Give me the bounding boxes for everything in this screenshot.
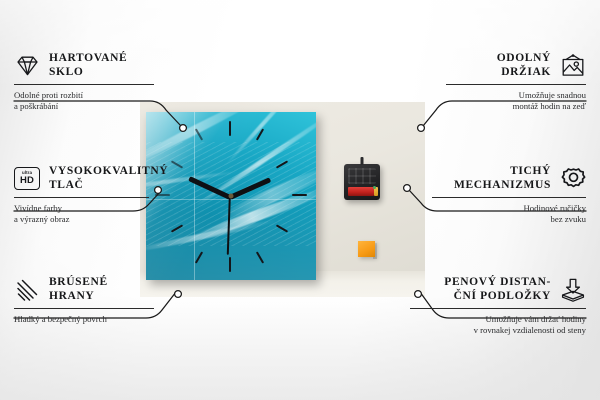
foam-spacer-pad [358, 241, 375, 257]
feature-desc-line1: Umožňuje vám držať hodiny [486, 314, 586, 324]
feature-desc-line2: bez zvuku [551, 214, 586, 224]
wall-clock [146, 112, 316, 280]
feature-divider [446, 84, 586, 85]
feature-tempered-glass: HARTOVANÉ SKLO Odolné proti rozbití a po… [14, 52, 154, 112]
feature-divider [14, 84, 154, 85]
clock-hub [229, 194, 234, 199]
feature-desc-line1: Hladký a bezpečný povrch [14, 314, 107, 324]
gear-icon [560, 167, 586, 191]
feature-title-line2: MECHANIZMUS [454, 179, 551, 191]
feature-divider [14, 197, 149, 198]
feature-silent-mechanism: TICHÝ MECHANIZMUS Hodinové ručičky bez z… [432, 165, 586, 225]
feature-desc-line2: montáž hodin na zeď [513, 101, 586, 111]
ultra-hd-icon: ultra HD [14, 167, 40, 191]
feature-title-line2: SKLO [49, 66, 84, 78]
feature-desc-line1: Vivídne farby [14, 203, 62, 213]
feature-desc-line1: Odolné proti rozbití [14, 90, 83, 100]
feature-desc-line2: a výrazný obraz [14, 214, 69, 224]
diamond-icon [14, 54, 40, 78]
mechanism-indicator [373, 186, 376, 189]
feature-title-line2: ČNÍ PODLOŽKY [454, 290, 551, 302]
feature-divider [410, 308, 586, 309]
feature-title-line2: HRANY [49, 290, 94, 302]
feature-title-line1: BRÚSENÉ [49, 276, 108, 288]
feature-title-line1: TICHÝ [510, 165, 551, 177]
clock-tick [292, 194, 307, 196]
feature-title-line1: PENOVÝ DISTAN- [444, 276, 551, 288]
polished-edges-icon [14, 278, 40, 302]
feature-durable-hanger: ODOLNÝ DRŽIAK Umožňuje snadnou montáž ho… [446, 52, 586, 112]
clock-tick [155, 194, 170, 196]
feature-title-line2: TLAČ [49, 179, 83, 191]
feature-title-line1: VYSOKOKVALITNÝ [49, 165, 168, 177]
feature-title-line1: HARTOVANÉ [49, 52, 127, 64]
product-photo [140, 102, 425, 297]
feature-desc-line1: Hodinové ručičky [524, 203, 586, 213]
feature-title-line2: DRŽIAK [501, 66, 551, 78]
infographic-canvas: HARTOVANÉ SKLO Odolné proti rozbití a po… [0, 0, 600, 400]
feature-foam-spacers: PENOVÝ DISTAN- ČNÍ PODLOŽKY Umožňuje vám… [410, 276, 586, 336]
mechanism-shaft [361, 157, 364, 165]
feature-divider [432, 197, 586, 198]
feature-high-quality-print: ultra HD VYSOKOKVALITNÝ TLAČ Vivídne far… [14, 165, 149, 225]
mechanism-housing-texture [348, 168, 376, 184]
feature-polished-edges: BRÚSENÉ HRANY Hladký a bezpečný povrch [14, 276, 154, 325]
clock-mechanism [344, 164, 380, 200]
feature-desc-line2: a poškrábání [14, 101, 58, 111]
feature-divider [14, 308, 154, 309]
picture-frame-icon [560, 54, 586, 78]
clock-tick [229, 257, 231, 272]
clock-tick [229, 121, 231, 136]
foam-pad-icon [560, 278, 586, 302]
ultra-hd-icon-main-text: HD [20, 176, 34, 186]
feature-desc-line1: Umožňuje snadnou [519, 90, 586, 100]
battery [348, 187, 374, 196]
feature-title-line1: ODOLNÝ [497, 52, 551, 64]
feature-desc-line2: v rovnakej vzdialenosti od steny [474, 325, 586, 335]
